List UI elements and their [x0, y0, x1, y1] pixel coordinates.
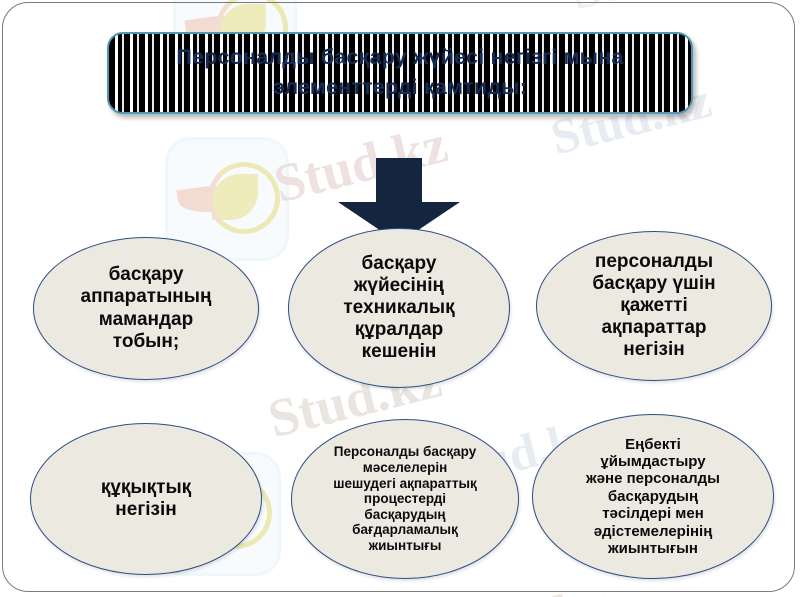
- ellipse-label: құқықтық негізін: [85, 477, 207, 521]
- title-line-2: элементтерді қамтиды:: [273, 75, 527, 99]
- ellipse-label: басқару аппаратының мамандар тобын;: [65, 264, 228, 352]
- watermark-text: Stud.kz: [565, 0, 743, 22]
- concept-ellipse-bagdarlamalyq-jiyntyq[interactable]: Персоналды басқару мәселелерін шешудегі …: [291, 419, 519, 579]
- concept-ellipse-aqparattar-negizi[interactable]: персоналды басқару үшін қажетті ақпаратт…: [536, 231, 772, 381]
- presentation-slide: Stud.kz Stud.kz Stud.kz Stud.kz Stud.kz …: [0, 0, 800, 597]
- stud-kz-logo-watermark-icon: [168, 140, 286, 258]
- ellipse-label: персоналды басқару үшін қажетті ақпаратт…: [576, 251, 731, 361]
- concept-ellipse-quqyqtyq-negiz[interactable]: құқықтық негізін: [30, 423, 262, 575]
- watermark-text: Stud.kz: [430, 573, 615, 597]
- ellipse-label: басқару жүйесінің техникалық құралдар ке…: [327, 253, 470, 363]
- ellipse-label: Персоналды басқару мәселелерін шешудегі …: [317, 444, 493, 554]
- page-title: Персоналды басқару жүйесі негізгі мына э…: [109, 43, 691, 102]
- concept-ellipse-basqaru-apparaty[interactable]: басқару аппаратының мамандар тобын;: [33, 237, 259, 380]
- title-banner: Персоналды басқару жүйесі негізгі мына э…: [107, 32, 693, 114]
- ellipse-label: Еңбекті ұйымдастыру және персоналды басқ…: [570, 436, 736, 558]
- title-line-1: Персоналды басқару жүйесі негізгі мына: [176, 45, 623, 69]
- concept-ellipse-tehnikalyq-quraldar[interactable]: басқару жүйесінің техникалық құралдар ке…: [288, 228, 510, 388]
- concept-ellipse-tasilderi-men-adistemeleri[interactable]: Еңбекті ұйымдастыру және персоналды басқ…: [532, 414, 774, 579]
